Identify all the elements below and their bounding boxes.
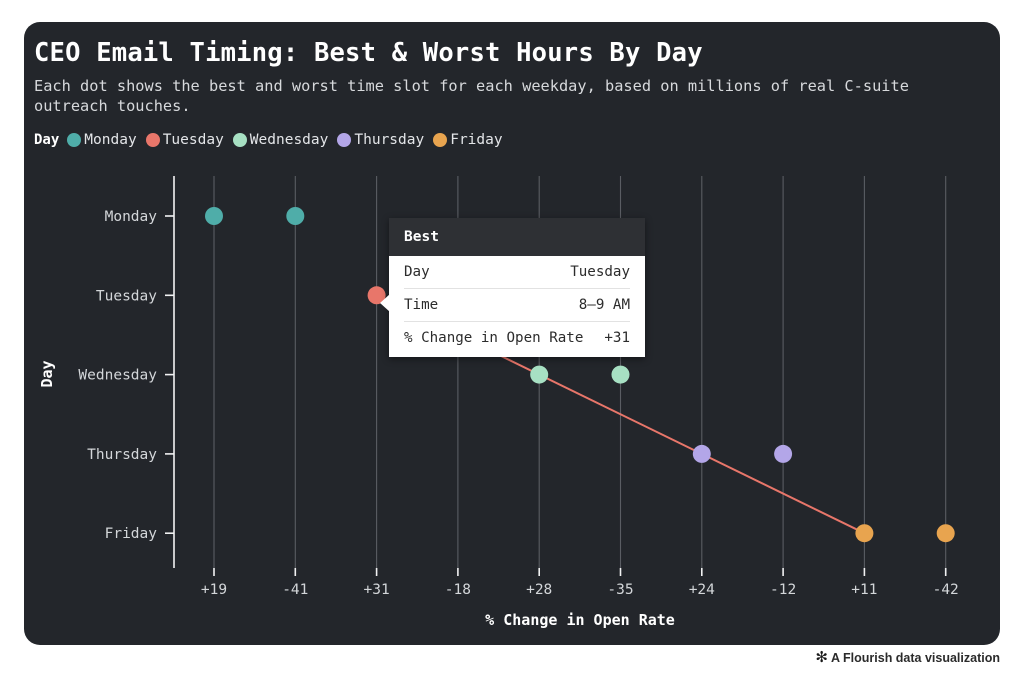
tooltip-key-day: Day — [404, 264, 430, 280]
x-tick-label: +24 — [689, 582, 715, 598]
y-tick-label-tuesday: Tuesday — [96, 288, 157, 304]
tooltip-key-time: Time — [404, 297, 438, 313]
data-point-monday-best[interactable] — [205, 207, 223, 225]
x-tick-label: -18 — [445, 582, 471, 598]
tooltip-row-time: Time 8–9 AM — [404, 289, 630, 322]
x-tick-label: -12 — [770, 582, 796, 598]
tooltip-row-day: Day Tuesday — [404, 256, 630, 289]
data-point-thursday-worst[interactable] — [774, 445, 792, 463]
tooltip-pointer-icon — [380, 294, 390, 312]
data-point-friday-worst[interactable] — [937, 524, 955, 542]
tooltip-row-change: % Change in Open Rate +31 — [404, 322, 630, 357]
x-tick-label: +19 — [201, 582, 227, 598]
y-tick-label-friday: Friday — [105, 526, 158, 542]
x-tick-label: +11 — [851, 582, 877, 598]
data-point-wednesday-best[interactable] — [530, 366, 548, 384]
x-tick-label: -42 — [933, 582, 959, 598]
x-tick-label: +28 — [526, 582, 552, 598]
tooltip-body: Day Tuesday Time 8–9 AM % Change in Open… — [389, 256, 645, 357]
y-axis-title: Day — [38, 360, 56, 387]
tooltip-header: Best — [389, 218, 645, 256]
footer-credit[interactable]: ✻ A Flourish data visualization — [815, 650, 1000, 665]
x-tick-label: +31 — [363, 582, 389, 598]
x-axis-title: % Change in Open Rate — [485, 611, 675, 629]
y-tick-label-wednesday: Wednesday — [78, 368, 157, 384]
tooltip-value-time: 8–9 AM — [579, 297, 630, 313]
flourish-asterisk-icon: ✻ — [815, 650, 828, 665]
x-tick-label: -41 — [282, 582, 308, 598]
tooltip-value-day: Tuesday — [570, 264, 630, 280]
data-point-monday-worst[interactable] — [286, 207, 304, 225]
data-point-thursday-best[interactable] — [693, 445, 711, 463]
y-axis-ticks: MondayTuesdayWednesdayThursdayFriday — [78, 209, 174, 542]
y-tick-label-monday: Monday — [105, 209, 158, 225]
tooltip[interactable]: Best Day Tuesday Time 8–9 AM % Change in… — [389, 218, 645, 357]
data-point-wednesday-worst[interactable] — [612, 366, 630, 384]
chart-card: CEO Email Timing: Best & Worst Hours By … — [24, 22, 1000, 645]
x-axis-ticks: +19-41+31-18+28-35+24-12+11-42 — [201, 568, 959, 598]
tooltip-value-change: +31 — [604, 330, 630, 346]
data-point-friday-best[interactable] — [855, 524, 873, 542]
y-tick-label-thursday: Thursday — [87, 447, 157, 463]
x-tick-label: -35 — [607, 582, 633, 598]
screenshot-root: CEO Email Timing: Best & Worst Hours By … — [0, 0, 1024, 689]
footer-credit-label: A Flourish data visualization — [831, 651, 1000, 665]
tooltip-key-change: % Change in Open Rate — [404, 330, 583, 346]
